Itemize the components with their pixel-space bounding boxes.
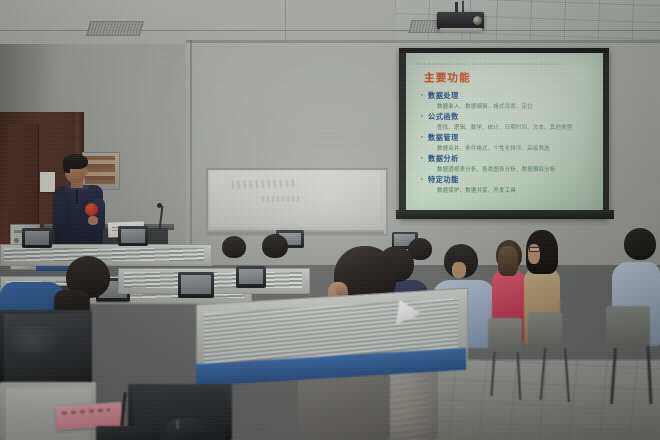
cable	[120, 392, 127, 426]
chair-back	[606, 306, 650, 348]
glasses-icon	[529, 247, 540, 252]
wall-panel-insert	[85, 156, 115, 184]
attendee-hair	[498, 246, 518, 276]
attendee-head	[624, 228, 656, 260]
screen-vignette	[406, 53, 603, 210]
keyboard	[96, 426, 160, 440]
chair-back	[528, 312, 562, 348]
notice-paper	[40, 172, 55, 192]
monitor-screen	[181, 275, 211, 294]
chair-back	[488, 318, 522, 352]
desk-partition-glass	[4, 248, 204, 261]
attendee-head	[262, 234, 288, 258]
projector-base	[440, 28, 482, 33]
screen-frame-bottom	[396, 210, 614, 219]
attendee-head	[222, 236, 246, 258]
monitor-reflection	[12, 326, 62, 360]
wall-corner	[190, 40, 192, 255]
ceiling-vent-icon	[86, 21, 144, 36]
wall-trim	[186, 40, 660, 43]
attendee-face	[452, 262, 466, 278]
monitor-screen	[239, 269, 263, 284]
monitor-screen	[121, 229, 145, 243]
presenter-hand	[88, 216, 98, 225]
projector-lens-icon	[473, 16, 482, 25]
computer-mouse	[166, 418, 204, 440]
presenter-arm-left	[53, 196, 66, 234]
presenter-hair	[63, 160, 70, 173]
presenter-shirt-logo	[85, 203, 98, 216]
monitor-screen	[25, 231, 49, 245]
microphone-icon	[157, 203, 162, 208]
whiteboard-marks	[262, 196, 300, 202]
pc-power-button-icon	[14, 238, 19, 243]
mouse-seam	[176, 420, 179, 429]
presenter-placket	[76, 190, 78, 204]
whiteboard-marks	[232, 179, 294, 189]
presenter-ear	[84, 169, 88, 175]
classroom-photo: Office Automation Course | Data Manageme…	[0, 0, 660, 440]
